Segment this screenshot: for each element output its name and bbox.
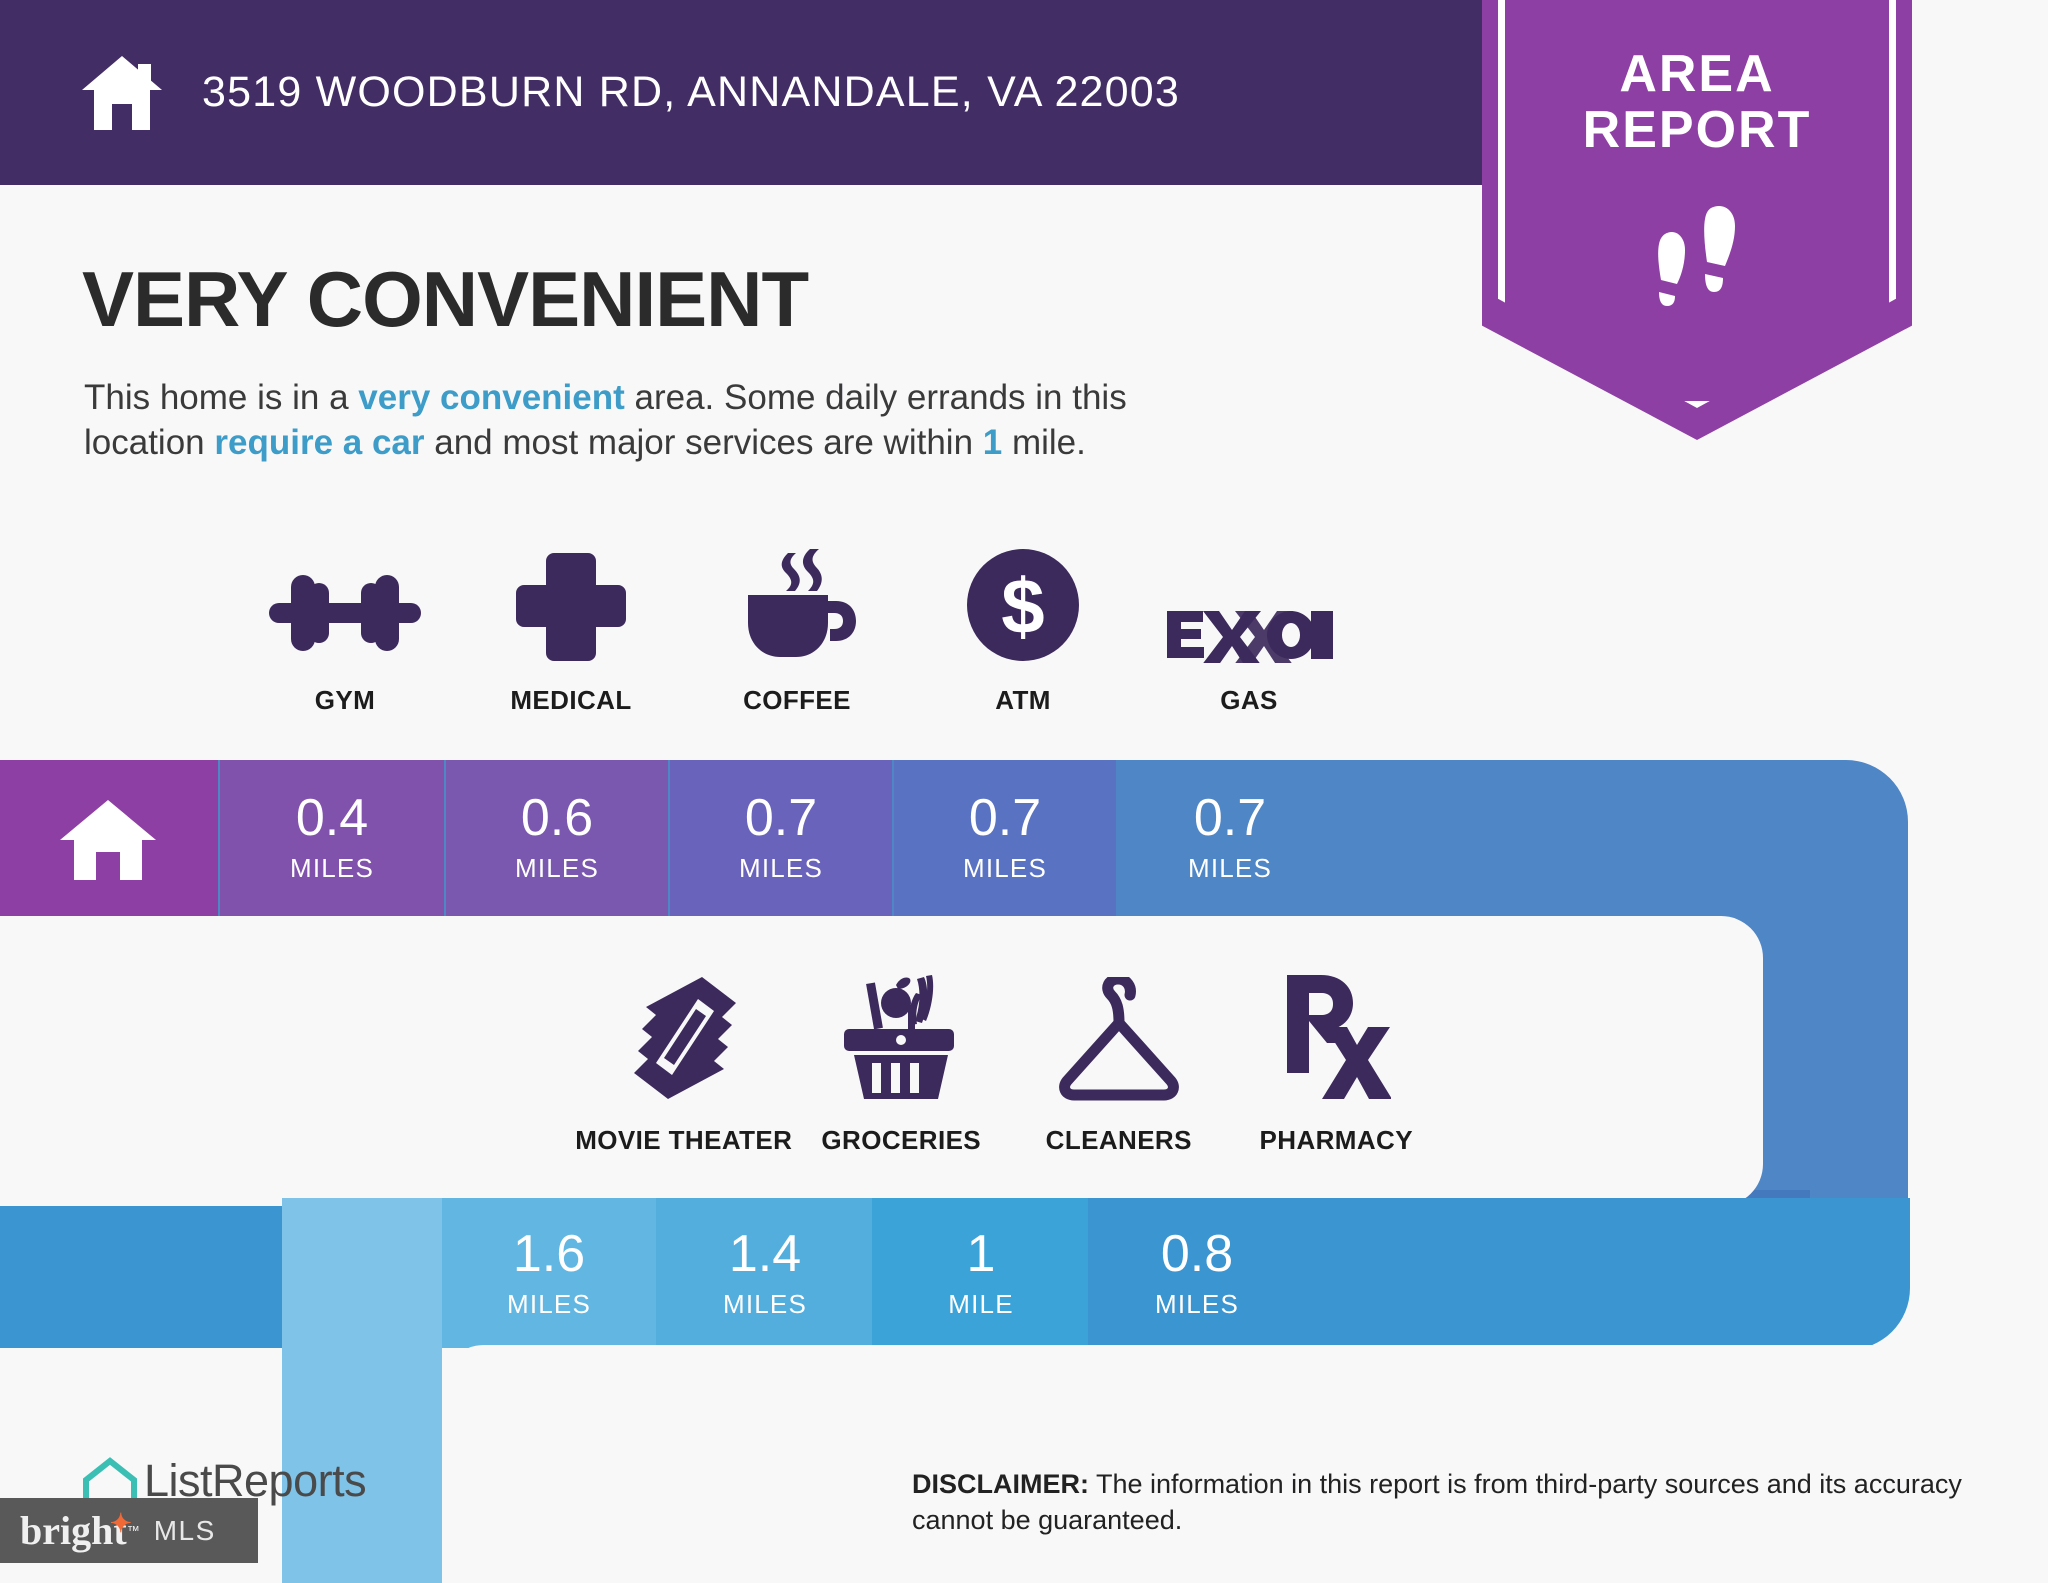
amenity-label: CLEANERS [1046,1125,1192,1156]
amenity-icon-row-2: MOVIE THEATER [575,985,1445,1156]
amenity-label: PHARMACY [1260,1125,1413,1156]
distance-unit: MILES [1155,1289,1239,1320]
distance-unit: MILES [723,1289,807,1320]
distance-value: 0.7 [969,792,1041,844]
summary-description: This home is in a very convenient area. … [84,376,1174,466]
amenity-label: ATM [995,685,1051,716]
home-icon [58,798,158,882]
amenity-atm: $ ATM [910,545,1136,716]
amenity-label: MEDICAL [510,685,631,716]
distance-value: 0.8 [1161,1228,1233,1280]
amenity-label: GYM [315,685,375,716]
rx-icon [1281,985,1391,1103]
snake-cell-coffee: 0.7 MILES [670,760,892,916]
amenity-pharmacy: PHARMACY [1228,985,1446,1156]
amenity-label: GAS [1220,685,1278,716]
snake-home-cell [0,760,218,916]
distance-unit: MILES [507,1289,591,1320]
amenity-label: COFFEE [743,685,851,716]
distance-value: 0.7 [1194,792,1266,844]
movie-ticket-icon [628,985,740,1103]
amenity-gas: GAS [1136,545,1362,716]
distance-unit: MILES [1188,853,1272,884]
distance-unit: MILES [515,853,599,884]
amenity-coffee: COFFEE [684,545,910,716]
summary-highlight-3: 1 [983,423,1002,462]
distance-value: 0.4 [296,792,368,844]
amenity-icon-row-1: GYM MEDICAL COFFE [232,545,1362,716]
grocery-basket-icon [838,985,964,1103]
distance-unit: MILE [948,1289,1013,1320]
snake-tail-vertical [282,1198,442,1583]
distance-unit: MILES [739,853,823,884]
amenity-gym: GYM [232,545,458,716]
summary-highlight-1: very convenient [358,378,625,417]
snake-cell-atm: 0.7 MILES [894,760,1116,916]
dumbbell-icon [265,545,425,663]
svg-text:$: $ [1001,562,1044,650]
snake-cell-gym: 0.4 MILES [220,760,444,916]
distance-value: 1 [967,1228,996,1280]
coffee-cup-icon [738,545,856,663]
bright-mls-badge: bright ✦ ™ MLS [0,1498,258,1563]
property-address: 3519 WOODBURN RD, ANNANDALE, VA 22003 [202,68,1180,117]
summary-part-4: mile. [1002,423,1086,462]
area-report-page: 3519 WOODBURN RD, ANNANDALE, VA 22003 AR… [0,0,2048,1583]
distance-value: 1.6 [513,1228,585,1280]
bright-mls-label: MLS [154,1515,216,1547]
summary-highlight-2: require a car [214,423,424,462]
distance-value: 0.7 [745,792,817,844]
amenity-medical: MEDICAL [458,545,684,716]
snake-cell-movie-theater: 1.6 MILES [440,1198,658,1350]
amenity-label: GROCERIES [821,1125,981,1156]
exxon-logo-icon [1165,545,1333,663]
snake-cutout-bottom [442,1345,1912,1583]
snake-cell-pharmacy: 0.8 MILES [1088,1198,1910,1350]
badge-title: AREA REPORT [1482,46,1912,158]
badge-line-1: AREA [1482,46,1912,102]
page-header: 3519 WOODBURN RD, ANNANDALE, VA 22003 [0,0,1482,185]
amenity-cleaners: CLEANERS [1010,985,1228,1156]
amenity-label: MOVIE THEATER [575,1125,792,1156]
area-report-badge: AREA REPORT [1482,0,1912,440]
summary-part-1: This home is in a [84,378,358,417]
home-icon [78,54,166,132]
snake-cell-groceries: 1.4 MILES [656,1198,874,1350]
disclaimer: DISCLAIMER: The information in this repo… [912,1467,1972,1538]
footprints-icon [1645,198,1751,308]
distance-unit: MILES [290,853,374,884]
distance-value: 0.6 [521,792,593,844]
snake-cell-cleaners: 1 MILE [872,1198,1090,1350]
disclaimer-label: DISCLAIMER: [912,1469,1089,1499]
badge-line-2: REPORT [1482,102,1912,158]
summary-part-3: and most major services are within [425,423,983,462]
page-title: VERY CONVENIENT [82,254,808,345]
dollar-circle-icon: $ [965,545,1081,663]
bright-label: bright ✦ [20,1507,127,1554]
distance-unit: MILES [963,853,1047,884]
amenity-groceries: GROCERIES [793,985,1011,1156]
amenity-movie-theater: MOVIE THEATER [575,985,793,1156]
clothes-hanger-icon [1057,985,1181,1103]
bright-star-icon: ✦ [110,1509,132,1539]
medical-cross-icon [516,545,626,663]
snake-cell-medical: 0.6 MILES [446,760,668,916]
snake-cell-gas: 0.7 MILES [1118,760,1698,916]
distance-value: 1.4 [729,1228,801,1280]
